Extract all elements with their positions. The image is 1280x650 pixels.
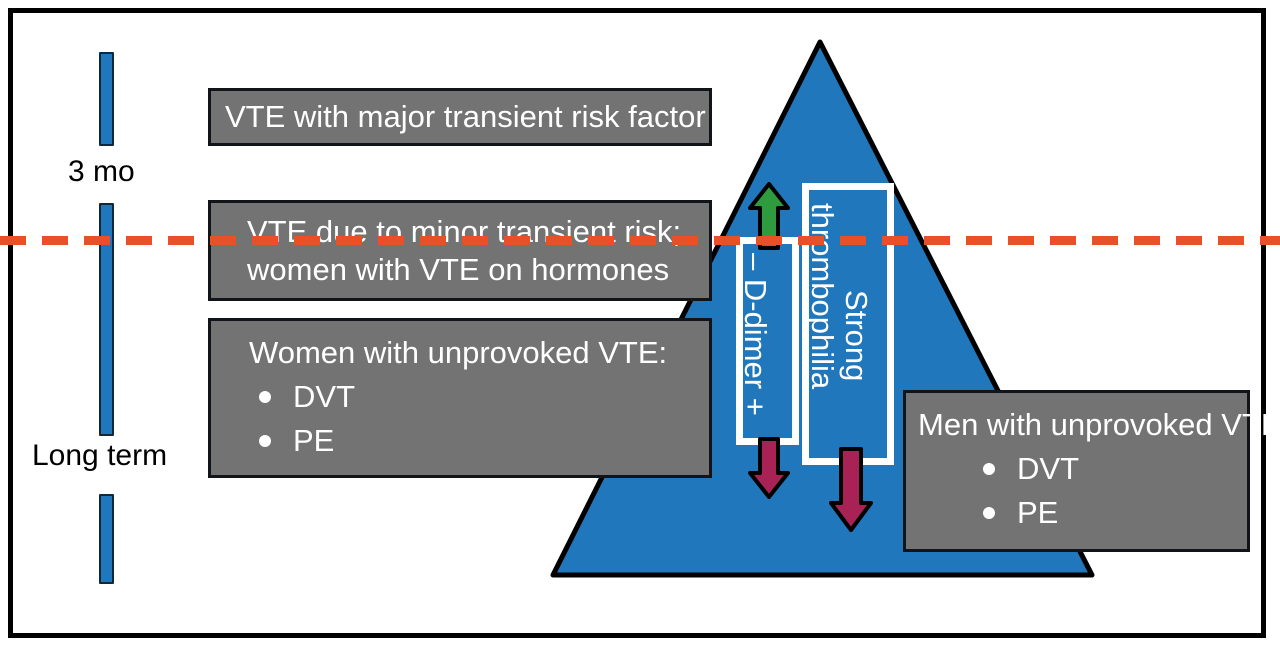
vte-duration-figure: 3 mo Long term VTE with major transient … [0,0,1280,650]
risk-box-minor-transient: VTE due to minor transient risk; women w… [208,200,712,301]
risk-box-men-unprovoked-bullet-dvt: DVT [983,450,1247,488]
risk-box-women-unprovoked-bullet-2-label: PE [293,422,334,460]
risk-box-men-unprovoked-bullet-pe: PE [983,494,1247,532]
d-dimer-label: – D-dimer + [738,253,772,416]
timeline-label-long-term: Long term [32,441,167,471]
risk-box-women-unprovoked-heading: Women with unprovoked VTE: [249,334,709,372]
decision-threshold-line [0,236,1280,245]
risk-box-major-transient: VTE with major transient risk factor [208,88,712,146]
risk-box-women-unprovoked-bullet-pe: PE [259,422,709,460]
figure-canvas: 3 mo Long term VTE with major transient … [0,0,1280,650]
strong-thrombophilia-label-line-2: thrombophilia [805,203,839,389]
long-duration-bar [99,494,114,584]
risk-box-men-unprovoked-heading: Men with unprovoked VTE: [918,406,1247,444]
risk-box-women-unprovoked-bullet-dvt: DVT [259,378,709,416]
decrease-risk-arrow-d-dimer [748,437,790,499]
bullet-dot-icon [983,507,995,519]
risk-box-men-unprovoked-bullet-1-label: DVT [1017,450,1079,488]
risk-box-major-transient-line-1: VTE with major transient risk factor [225,98,706,136]
bullet-dot-icon [259,435,271,447]
risk-box-men-unprovoked-bullet-2-label: PE [1017,494,1058,532]
bullet-dot-icon [983,463,995,475]
short-duration-bar [99,52,114,146]
timeline-label-3mo: 3 mo [68,157,135,187]
risk-box-minor-transient-line-2: women with VTE on hormones [247,251,709,289]
risk-box-women-unprovoked: Women with unprovoked VTE: DVT PE [208,318,712,478]
risk-box-women-unprovoked-bullet-1-label: DVT [293,378,355,416]
bullet-dot-icon [259,391,271,403]
decrease-risk-arrow-thrombophilia [829,447,873,532]
risk-box-men-unprovoked: Men with unprovoked VTE: DVT PE [903,390,1250,552]
strong-thrombophilia-label-line-1: Strong [839,290,873,381]
